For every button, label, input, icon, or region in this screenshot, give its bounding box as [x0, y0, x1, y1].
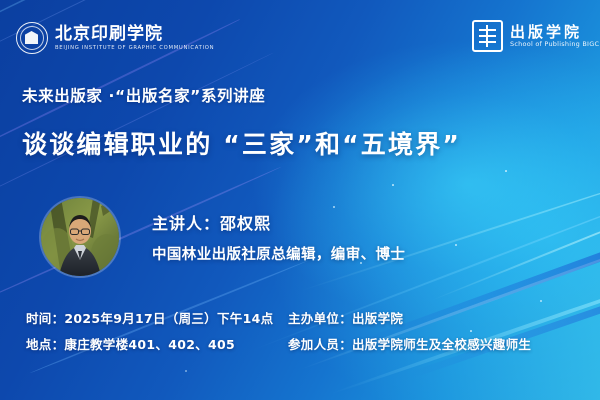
speaker-portrait [41, 198, 119, 276]
sparkle-dot [505, 170, 507, 172]
series-label: 未来出版家 ·“出版名家”系列讲座 [22, 84, 265, 106]
detail-time: 时间：2025年9月17日（周三）下午14点 [26, 306, 273, 332]
details-left-column: 时间：2025年9月17日（周三）下午14点 地点：康庄教学楼401、402、4… [26, 306, 273, 358]
university-name-cn: 北京印刷学院 [55, 26, 163, 43]
portrait-image [41, 198, 119, 276]
speaker-credentials: 中国林业出版社原总编辑，编审、博士 [152, 243, 405, 264]
university-logo: 北京印刷学院 BEIJING INSTITUTE OF GRAPHIC COMM… [16, 22, 163, 54]
detail-location: 地点：康庄教学楼401、402、405 [26, 332, 273, 358]
school-logo: 出版学院 School of Publishing BIGC [472, 20, 582, 52]
university-logo-text: 北京印刷学院 BEIJING INSTITUTE OF GRAPHIC COMM… [55, 26, 163, 49]
school-name-cn: 出版学院 [510, 25, 582, 41]
university-name-en: BEIJING INSTITUTE OF GRAPHIC COMMUNICATI… [55, 46, 222, 51]
streak-glow [430, 203, 600, 302]
details-right-column: 主办单位：出版学院 参加人员：出版学院师生及全校感兴趣师生 [288, 306, 531, 358]
page-title: 谈谈编辑职业的 “三家”和“五境界” [22, 125, 461, 161]
streak-glow [300, 185, 600, 291]
school-name-en: School of Publishing BIGC [510, 42, 600, 49]
sparkle-dot [455, 244, 457, 246]
publishing-book-emblem-icon [472, 20, 503, 52]
detail-attendees: 参加人员：出版学院师生及全校感兴趣师生 [288, 332, 531, 358]
sparkle-dot [185, 370, 187, 372]
school-logo-text: 出版学院 School of Publishing BIGC [510, 25, 582, 48]
sparkle-dot [540, 300, 542, 302]
lecture-poster: 北京印刷学院 BEIJING INSTITUTE OF GRAPHIC COMM… [0, 0, 600, 400]
detail-organizer: 主办单位：出版学院 [288, 306, 531, 332]
sparkle-dot [333, 206, 335, 208]
speaker-name: 主讲人：邵权熙 [152, 210, 271, 234]
sparkle-dot [392, 184, 394, 186]
bigc-seal-icon [16, 22, 48, 54]
